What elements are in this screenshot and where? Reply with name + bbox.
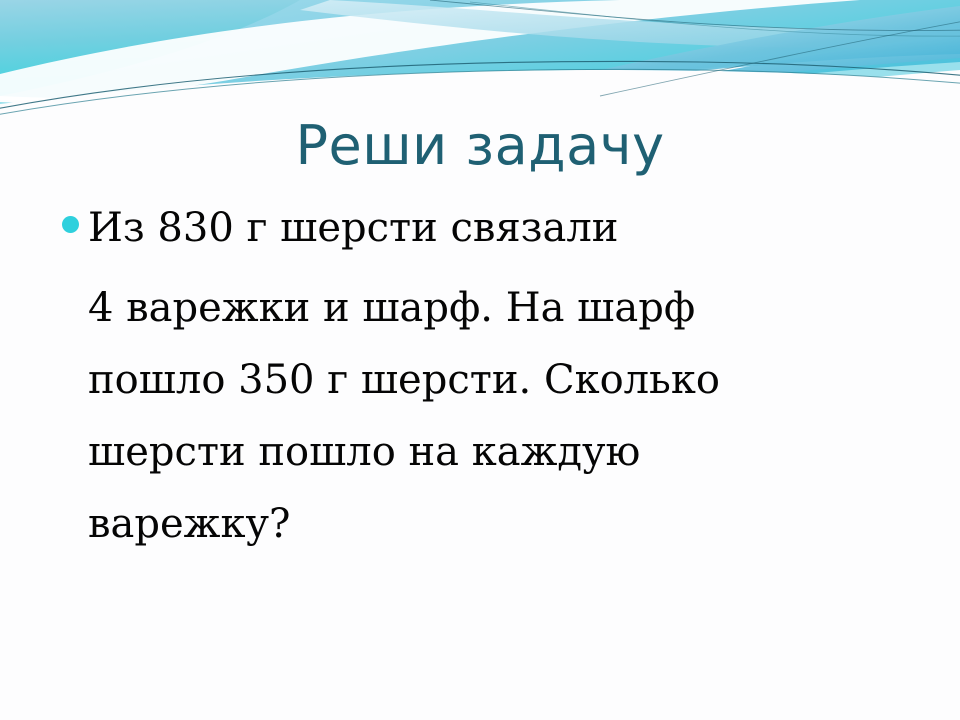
slide-canvas: Реши задачу Из 830 г шерсти связали 4 ва… [0,0,960,720]
wave-thin-line-4 [470,2,960,36]
bullet-dot-icon [62,216,79,233]
flow-wave-banner [0,0,960,130]
body-line: варежку? [88,488,882,560]
wave-base-field [0,0,960,99]
body-text-block: Из 830 г шерсти связали 4 варежки и шарф… [62,196,882,560]
wave-white-swoosh-upper [0,0,860,100]
wave-thin-line-5 [600,20,960,96]
body-line: шерсти пошло на каждую [88,416,882,488]
title-block: Реши задачу [0,118,960,175]
list-item: Из 830 г шерсти связали 4 варежки и шарф… [62,196,882,560]
wave-left-wedge [0,0,300,96]
body-line: пошло 350 г шерсти. Сколько [88,344,882,416]
wave-thin-line-1 [0,61,960,110]
body-line: 4 варежки и шарф. На шарф [88,272,882,344]
body-line: Из 830 г шерсти связали [88,196,882,260]
wave-turquoise-tail [0,58,960,118]
wave-thin-line-3 [430,0,960,31]
wave-thin-line-2 [0,69,960,116]
wave-right-band-b [600,34,960,96]
wave-pale-ribbon [300,0,960,48]
page-title: Реши задачу [295,118,664,175]
wave-right-band-a [500,6,960,92]
list-item-text: Из 830 г шерсти связали 4 варежки и шарф… [88,196,882,560]
